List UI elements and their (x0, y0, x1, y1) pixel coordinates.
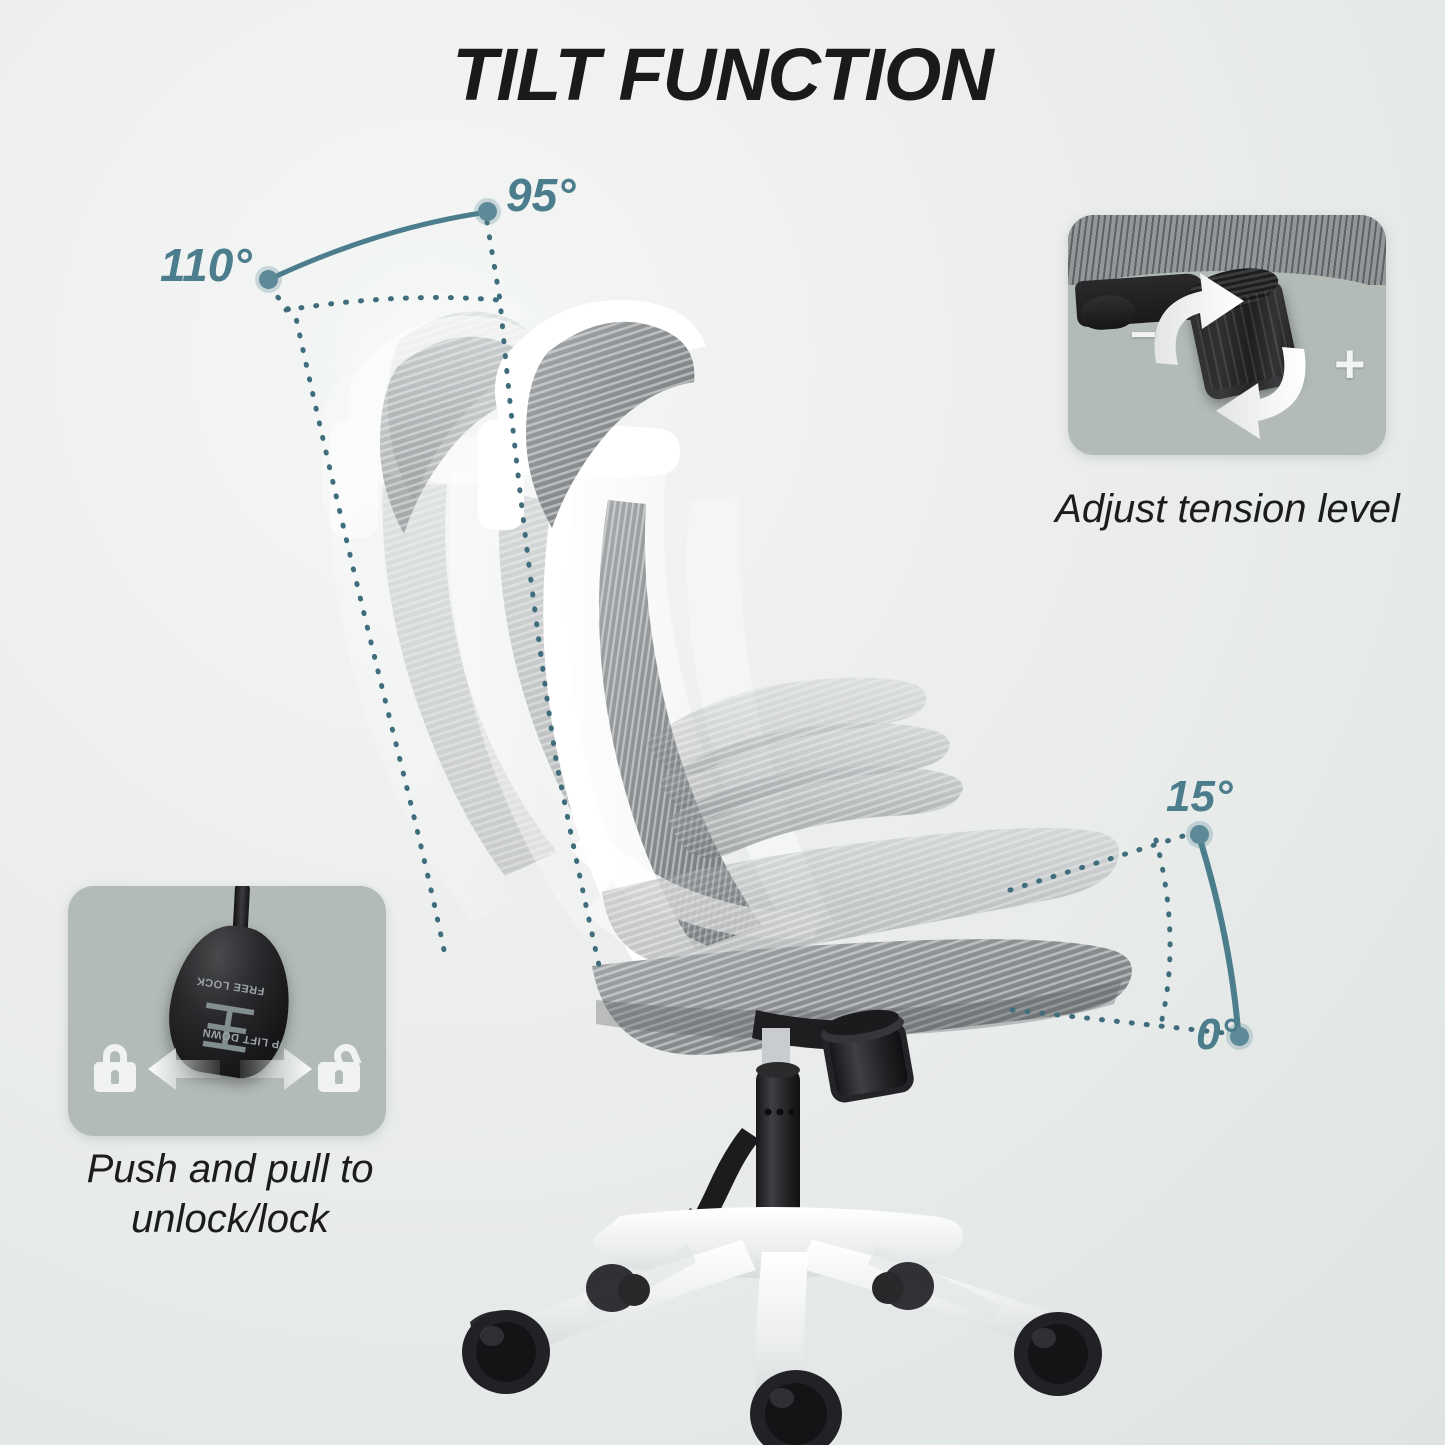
padlock-closed-icon (94, 1044, 136, 1092)
caster-front-left (462, 1310, 550, 1394)
tension-caption: Adjust tension level (1000, 484, 1445, 534)
padlock-open-icon (318, 1044, 360, 1092)
arrow-left-icon (148, 1048, 220, 1090)
caster-front-right (1014, 1312, 1102, 1396)
lock-caption: Push and pull to unlock/lock (20, 1144, 440, 1244)
angle-label-15: 15° (1166, 772, 1233, 822)
lock-caption-line1: Push and pull to (20, 1144, 440, 1194)
infographic-canvas: TILT FUNCTION (0, 0, 1445, 1445)
angle-label-95: 95° (506, 168, 576, 222)
angle-dot-95 (478, 202, 497, 221)
angle-label-0: 0° (1196, 1010, 1238, 1060)
plus-sign: + (1334, 337, 1366, 391)
arrow-down-icon (1216, 347, 1306, 439)
angle-dot-15 (1190, 825, 1209, 844)
tension-panel: − + (1068, 215, 1386, 455)
chair-base (462, 1207, 1102, 1445)
push-pull-arrows (146, 1042, 314, 1096)
arrow-up-icon (1154, 273, 1244, 365)
minus-sign: − (1130, 311, 1157, 357)
angle-label-110: 110° (160, 238, 252, 292)
lock-panel: FREE LOCK 王 UP LIFT DOWN (68, 886, 386, 1136)
lock-caption-line2: unlock/lock (20, 1194, 440, 1244)
angle-dot-110 (259, 270, 278, 289)
arrow-right-icon (240, 1048, 312, 1090)
